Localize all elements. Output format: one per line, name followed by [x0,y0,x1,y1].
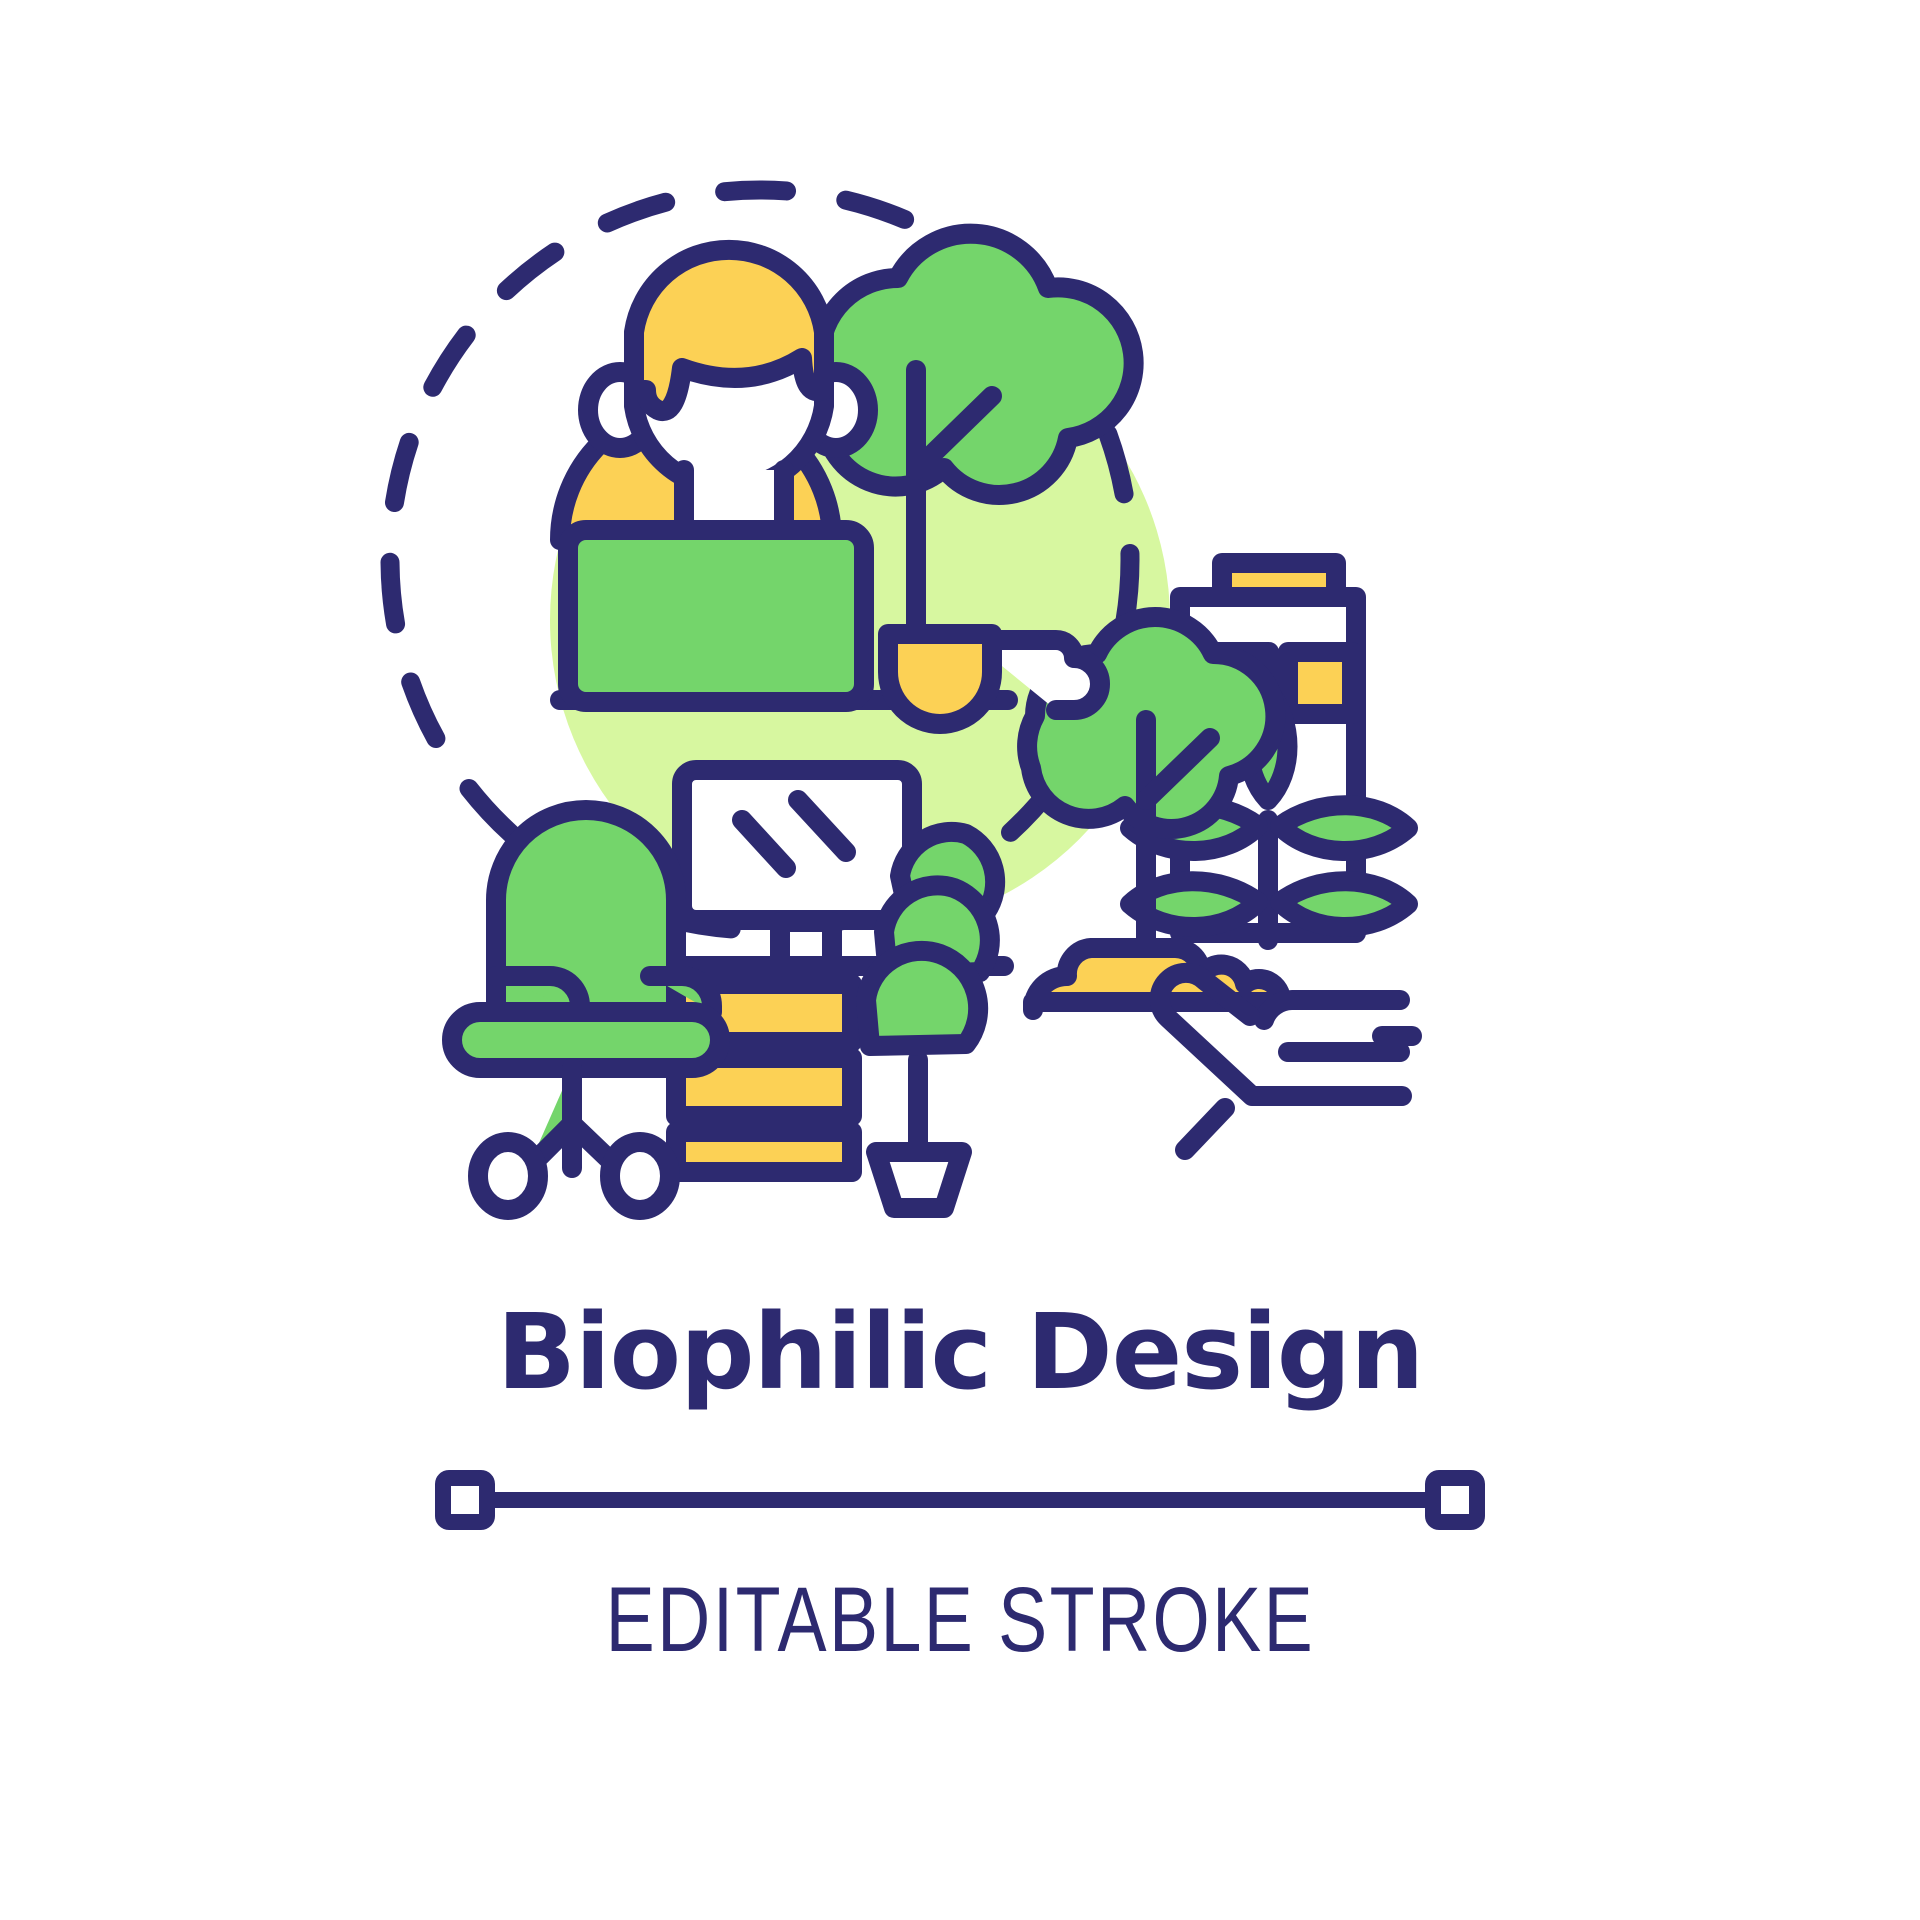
stroke-bar [435,1470,1485,1530]
page-title: Biophilic Design [0,1300,1920,1404]
person-at-laptop [560,250,868,540]
square-handle-left [443,1478,487,1522]
concept-icon-page: .st { fill:none; stroke:#2D2A70; stroke-… [0,0,1920,1920]
illustration-stage: .st { fill:none; stroke:#2D2A70; stroke-… [0,0,1920,1300]
editable-stroke-label: EDITABLE STROKE [605,1568,1314,1673]
editable-stroke-note: EDITABLE STROKE [0,1470,1920,1673]
square-handle-right [1433,1478,1477,1522]
laptop [568,530,864,702]
